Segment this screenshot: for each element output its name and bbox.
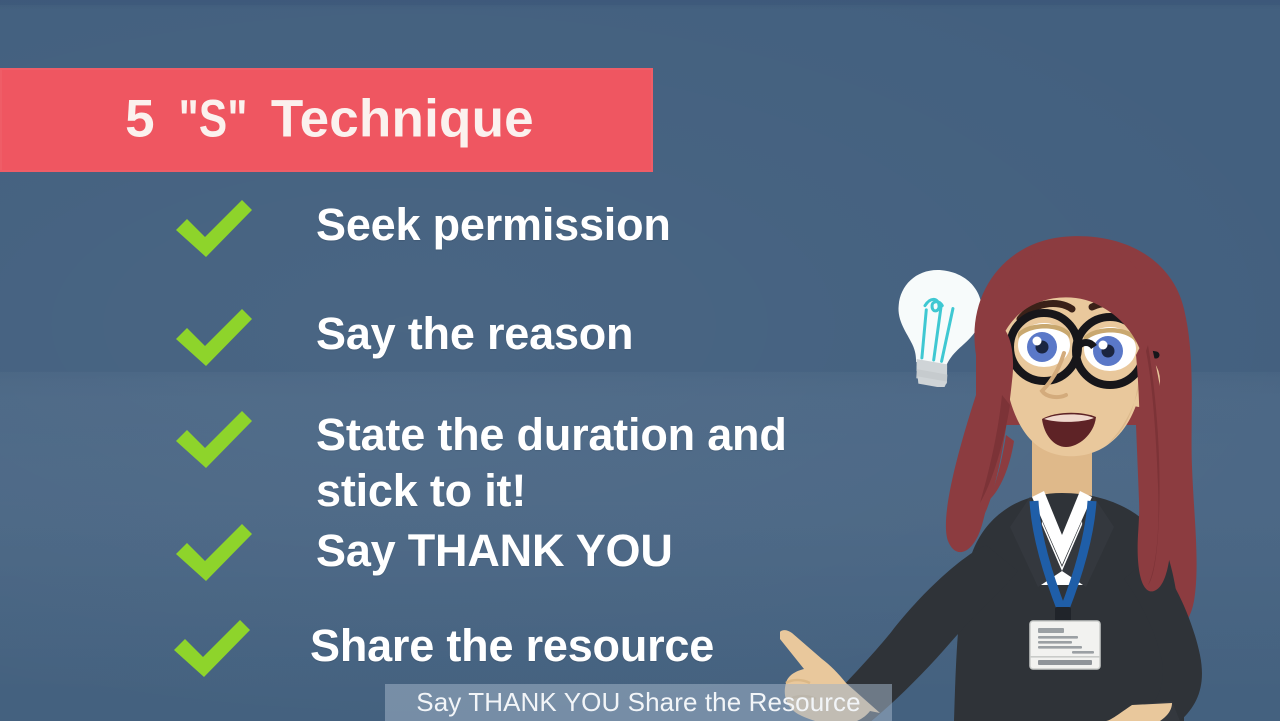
caption-bar: Say THANK YOU Share the Resource xyxy=(385,684,892,721)
page-title: 5 "S" Technique xyxy=(0,88,653,149)
check-icon xyxy=(172,305,256,377)
bullet-item-label: Say the reason xyxy=(316,307,633,362)
check-icon xyxy=(170,616,254,688)
bullet-item-label-line2: stick to it! xyxy=(316,464,816,519)
background-top-band xyxy=(0,0,1280,5)
caption-text: Say THANK YOU Share the Resource xyxy=(416,687,860,718)
presenter-character xyxy=(780,235,1280,721)
bullet-item-label: Seek permission xyxy=(316,198,671,253)
title-banner: 5 "S" Technique xyxy=(0,68,653,172)
bullet-item-label: Share the resource xyxy=(310,619,714,674)
check-icon xyxy=(172,196,256,268)
bullet-item-label-line1: State the duration and xyxy=(316,408,816,463)
id-badge xyxy=(1030,621,1100,669)
bullet-item-label: Say THANK YOU xyxy=(316,524,673,579)
title-quoted-s: "S" xyxy=(178,88,247,149)
title-prefix: 5 xyxy=(125,89,170,148)
check-icon xyxy=(172,520,256,592)
title-suffix: Technique xyxy=(256,89,534,148)
check-icon xyxy=(172,407,256,479)
slide-canvas: 5 "S" Technique Seek permission Say the … xyxy=(0,0,1280,721)
